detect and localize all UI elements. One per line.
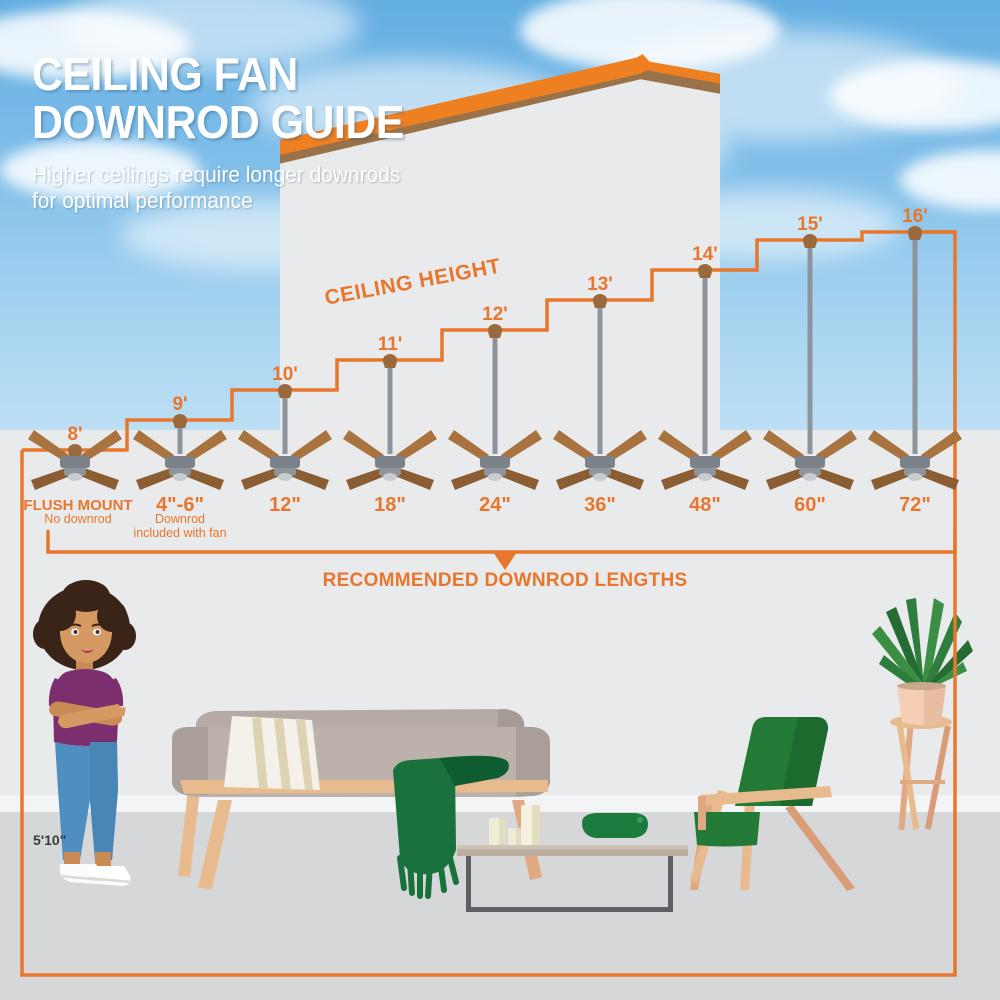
downrod bbox=[388, 364, 393, 454]
downrod-label-8: 60" bbox=[794, 494, 826, 517]
fan-column-6 bbox=[553, 294, 647, 490]
downrod bbox=[598, 304, 603, 454]
bracket-arrow-icon bbox=[493, 552, 517, 570]
downrod bbox=[703, 274, 708, 454]
downrod-label-7: 48" bbox=[689, 494, 721, 517]
ceiling-label-6: 13' bbox=[587, 274, 613, 296]
ceiling-label-2: 9' bbox=[172, 394, 187, 416]
ceiling-label-9: 16' bbox=[902, 206, 928, 228]
downrod bbox=[913, 236, 918, 454]
fan-column-5 bbox=[448, 324, 542, 490]
downrod-note-2-line2: included with fan bbox=[133, 527, 226, 541]
downrod bbox=[178, 424, 183, 454]
fan-column-9 bbox=[868, 226, 962, 490]
fan-column-8 bbox=[763, 234, 857, 490]
downrod-label-5: 24" bbox=[479, 494, 511, 517]
fan-column-4 bbox=[343, 354, 437, 490]
downrod-label-9: 72" bbox=[899, 494, 931, 517]
downrod-label-4: 18" bbox=[374, 494, 406, 517]
downrod-label-3: 12" bbox=[269, 494, 301, 517]
ceiling-label-7: 14' bbox=[692, 244, 718, 266]
ceiling-label-4: 11' bbox=[378, 334, 403, 356]
downrod-note-2-line1: Downrod bbox=[133, 513, 226, 527]
diagram-frame bbox=[22, 232, 955, 975]
downrod-note-1: No downrod bbox=[44, 513, 111, 527]
downrod bbox=[808, 244, 813, 454]
person-height-label: 5'10" bbox=[33, 832, 66, 848]
ceiling-label-8: 15' bbox=[797, 214, 823, 236]
downrod bbox=[283, 394, 288, 454]
ceiling-label-5: 12' bbox=[482, 304, 508, 326]
ceiling-label-3: 10' bbox=[272, 364, 298, 386]
fan-column-2 bbox=[133, 414, 227, 490]
downrod-label-6: 36" bbox=[584, 494, 616, 517]
fan-column-3 bbox=[238, 384, 332, 490]
downrod-note-2: Downrod included with fan bbox=[133, 513, 226, 540]
ceiling-label-1: 8' bbox=[67, 424, 82, 446]
fan-column-7 bbox=[658, 264, 752, 490]
infographic-root: CEILING FAN DOWNROD GUIDE Higher ceiling… bbox=[0, 0, 1000, 1000]
downrod bbox=[493, 334, 498, 454]
fan-motor bbox=[60, 456, 90, 468]
recommended-downrod-caption: RECOMMENDED DOWNROD LENGTHS bbox=[323, 570, 688, 592]
